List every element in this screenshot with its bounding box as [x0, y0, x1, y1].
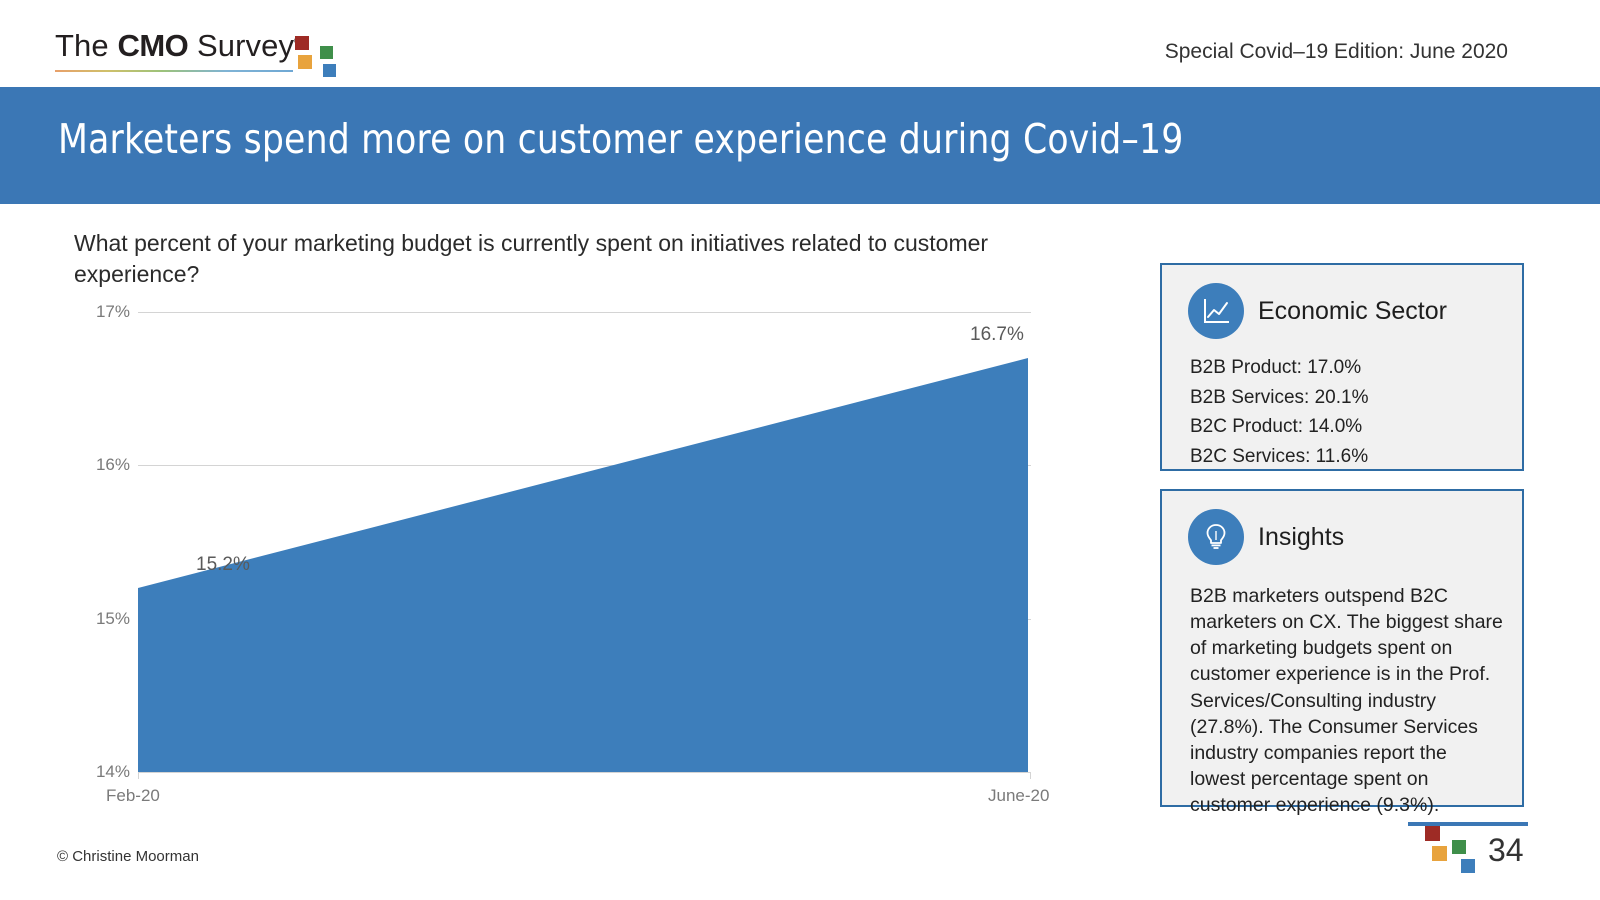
- chart-x-tick-label-feb: Feb-20: [106, 786, 160, 806]
- chart-area-svg: [138, 312, 1028, 772]
- logo-square-green-icon: [320, 46, 333, 59]
- line-chart-icon-glyph: [1200, 295, 1232, 327]
- insights-title: Insights: [1258, 523, 1344, 552]
- economic-sector-values: B2B Product: 17.0% B2B Services: 20.1% B…: [1190, 353, 1506, 472]
- logo-word-survey: Survey: [188, 28, 294, 63]
- lightbulb-icon-glyph: [1200, 521, 1232, 553]
- footer-square-orange-icon: [1432, 846, 1447, 861]
- page-title: Marketers spend more on customer experie…: [58, 115, 1184, 163]
- slide: The CMO Survey® Special Covid–19 Edition…: [0, 0, 1600, 900]
- logo-square-red-icon: [295, 36, 309, 50]
- chart-x-tick-last: [1030, 773, 1031, 779]
- line-chart-icon: [1188, 283, 1244, 339]
- chart-x-tick-label-june: June-20: [988, 786, 1049, 806]
- lightbulb-icon: [1188, 509, 1244, 565]
- sector-line-b2c-services: B2C Services: 11.6%: [1190, 442, 1506, 472]
- logo-square-orange-icon: [298, 55, 312, 69]
- logo-word-cmo: CMO: [117, 28, 188, 63]
- insights-panel: Insights B2B marketers outspend B2C mark…: [1160, 489, 1524, 807]
- survey-question: What percent of your marketing budget is…: [74, 228, 1004, 290]
- chart-y-tick-label: 14%: [72, 762, 130, 782]
- logo-underline-rule: [55, 70, 293, 72]
- chart-data-label-feb: 15.2%: [196, 554, 250, 576]
- chart-x-tick-first: [138, 773, 139, 779]
- logo-word-the: The: [55, 28, 117, 63]
- insights-text: B2B marketers outspend B2C marketers on …: [1190, 583, 1504, 818]
- chart-plot-area: [138, 312, 1028, 772]
- footer-square-red-icon: [1425, 826, 1440, 841]
- economic-sector-panel: Economic Sector B2B Product: 17.0% B2B S…: [1160, 263, 1524, 471]
- footer-square-green-icon: [1452, 840, 1466, 854]
- chart-y-tick-label: 15%: [72, 609, 130, 629]
- sector-line-b2b-services: B2B Services: 20.1%: [1190, 383, 1506, 413]
- cmo-survey-logo: The CMO Survey®: [55, 28, 355, 76]
- footer-square-blue-icon: [1461, 859, 1475, 873]
- chart-area-series: [138, 358, 1028, 772]
- economic-sector-header: Economic Sector: [1188, 283, 1447, 339]
- chart-y-tick-label: 16%: [72, 455, 130, 475]
- copyright-label: © Christine Moorman: [57, 848, 199, 865]
- sector-line-b2b-product: B2B Product: 17.0%: [1190, 353, 1506, 383]
- chart-x-axis-line: [138, 772, 1031, 773]
- chart-data-label-june: 16.7%: [970, 324, 1024, 346]
- area-chart: 14%15%16%17% Feb-20 June-20 15.2% 16.7%: [72, 312, 1082, 812]
- chart-y-tick-label: 17%: [72, 302, 130, 322]
- page-number: 34: [1488, 832, 1524, 869]
- slide-title-band: Marketers spend more on customer experie…: [0, 87, 1600, 204]
- economic-sector-title: Economic Sector: [1258, 297, 1447, 326]
- edition-label: Special Covid–19 Edition: June 2020: [1165, 40, 1508, 64]
- sector-line-b2c-product: B2C Product: 14.0%: [1190, 412, 1506, 442]
- insights-header: Insights: [1188, 509, 1344, 565]
- logo-square-blue-icon: [323, 64, 336, 77]
